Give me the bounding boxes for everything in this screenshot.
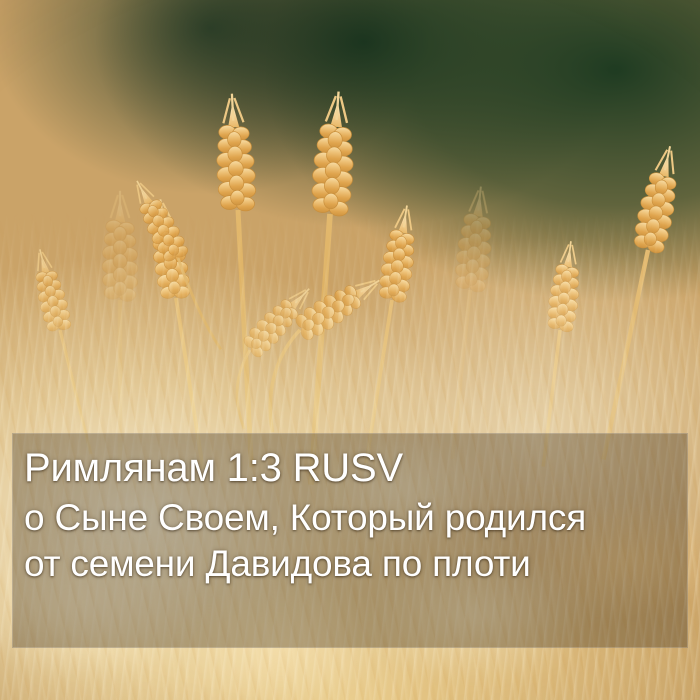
scripture-image-card: Римлянам 1:3 RUSV о Сыне Своем, Который … bbox=[0, 0, 700, 700]
caption-text-block: Римлянам 1:3 RUSV о Сыне Своем, Который … bbox=[24, 441, 684, 587]
verse-text-line-1: о Сыне Своем, Который родился bbox=[24, 495, 684, 541]
caption-overlay-band: Римлянам 1:3 RUSV о Сыне Своем, Который … bbox=[12, 433, 688, 648]
verse-reference: Римлянам 1:3 RUSV bbox=[24, 441, 684, 495]
verse-text-line-2: от семени Давидова по плоти bbox=[24, 541, 684, 587]
